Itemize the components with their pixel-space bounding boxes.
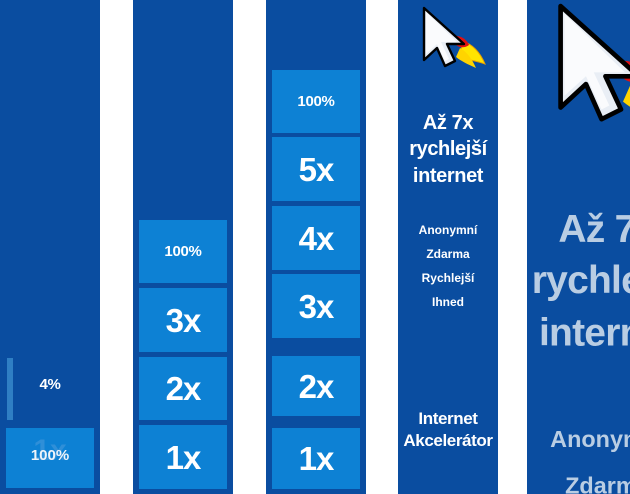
block-3x: 3x bbox=[139, 288, 227, 352]
block-1x: 1x bbox=[139, 425, 227, 489]
rocket-cursor-icon bbox=[412, 4, 492, 86]
promo-bullet-zdarma: Zdarma bbox=[398, 242, 498, 266]
block-5x: 5x bbox=[272, 137, 360, 201]
block-1x: 1x bbox=[272, 428, 360, 489]
promo-headline-line3: internet bbox=[398, 163, 498, 189]
block-4x: 4x bbox=[272, 206, 360, 270]
bar-base-label: 100% bbox=[6, 448, 94, 463]
zoom-content: Až 7x rychlejší internet Anonymní Zdarma… bbox=[527, 0, 630, 494]
panel-one: 4% 1x 100% bbox=[0, 0, 100, 494]
promo-bullet-anonymni: Anonymní bbox=[527, 416, 630, 463]
promo-headline-line3: internet bbox=[527, 308, 630, 359]
promo-headline-line1: Až 7x bbox=[398, 110, 498, 136]
promo-headline-line2: rychlejší bbox=[527, 256, 630, 307]
promo-headline-line1: Až 7x bbox=[527, 205, 630, 256]
promo-bullet-zdarma: Zdarma bbox=[527, 462, 630, 494]
bar-label-4-percent: 4% bbox=[0, 376, 100, 393]
promo-brand-line2: Akcelerátor bbox=[398, 430, 498, 452]
promo-bullet-rychlejsi: Rychlejší bbox=[398, 266, 498, 290]
block-100-percent: 100% bbox=[272, 70, 360, 133]
bar-base-100-percent: 1x 100% bbox=[6, 428, 94, 488]
rocket-cursor-icon bbox=[537, 0, 630, 158]
panel-two: 100% 3x 2x 1x bbox=[133, 0, 233, 494]
block-3x: 3x bbox=[272, 274, 360, 338]
screenshot-stage: 4% 1x 100% 100% 3x 2x 1x 100% 5x 4x 3x 2… bbox=[0, 0, 630, 494]
block-2x: 2x bbox=[139, 357, 227, 420]
block-2x: 2x bbox=[272, 356, 360, 416]
promo-brand: Internet Akcelerátor bbox=[398, 408, 498, 452]
promo-bullet-anonymni: Anonymní bbox=[398, 218, 498, 242]
promo-headline: Až 7x rychlejší internet bbox=[398, 110, 498, 189]
panel-four-promo: Až 7x rychlejší internet Anonymní Zdarma… bbox=[398, 0, 498, 494]
block-100-percent: 100% bbox=[139, 220, 227, 283]
promo-bullets: Anonymní Zdarma Rychlejší Ihned bbox=[527, 416, 630, 494]
promo-brand-line1: Internet bbox=[398, 408, 498, 430]
promo-headline: Až 7x rychlejší internet bbox=[527, 205, 630, 359]
promo-bullets: Anonymní Zdarma Rychlejší Ihned bbox=[398, 218, 498, 314]
promo-bullet-ihned: Ihned bbox=[398, 290, 498, 314]
promo-headline-line2: rychlejší bbox=[398, 136, 498, 162]
panel-three: 100% 5x 4x 3x 2x 1x bbox=[266, 0, 366, 494]
zoom-clip: Až 7x rychlejší internet Anonymní Zdarma… bbox=[527, 0, 630, 494]
panel-five-zoomed: Až 7x rychlejší internet Anonymní Zdarma… bbox=[527, 0, 630, 494]
